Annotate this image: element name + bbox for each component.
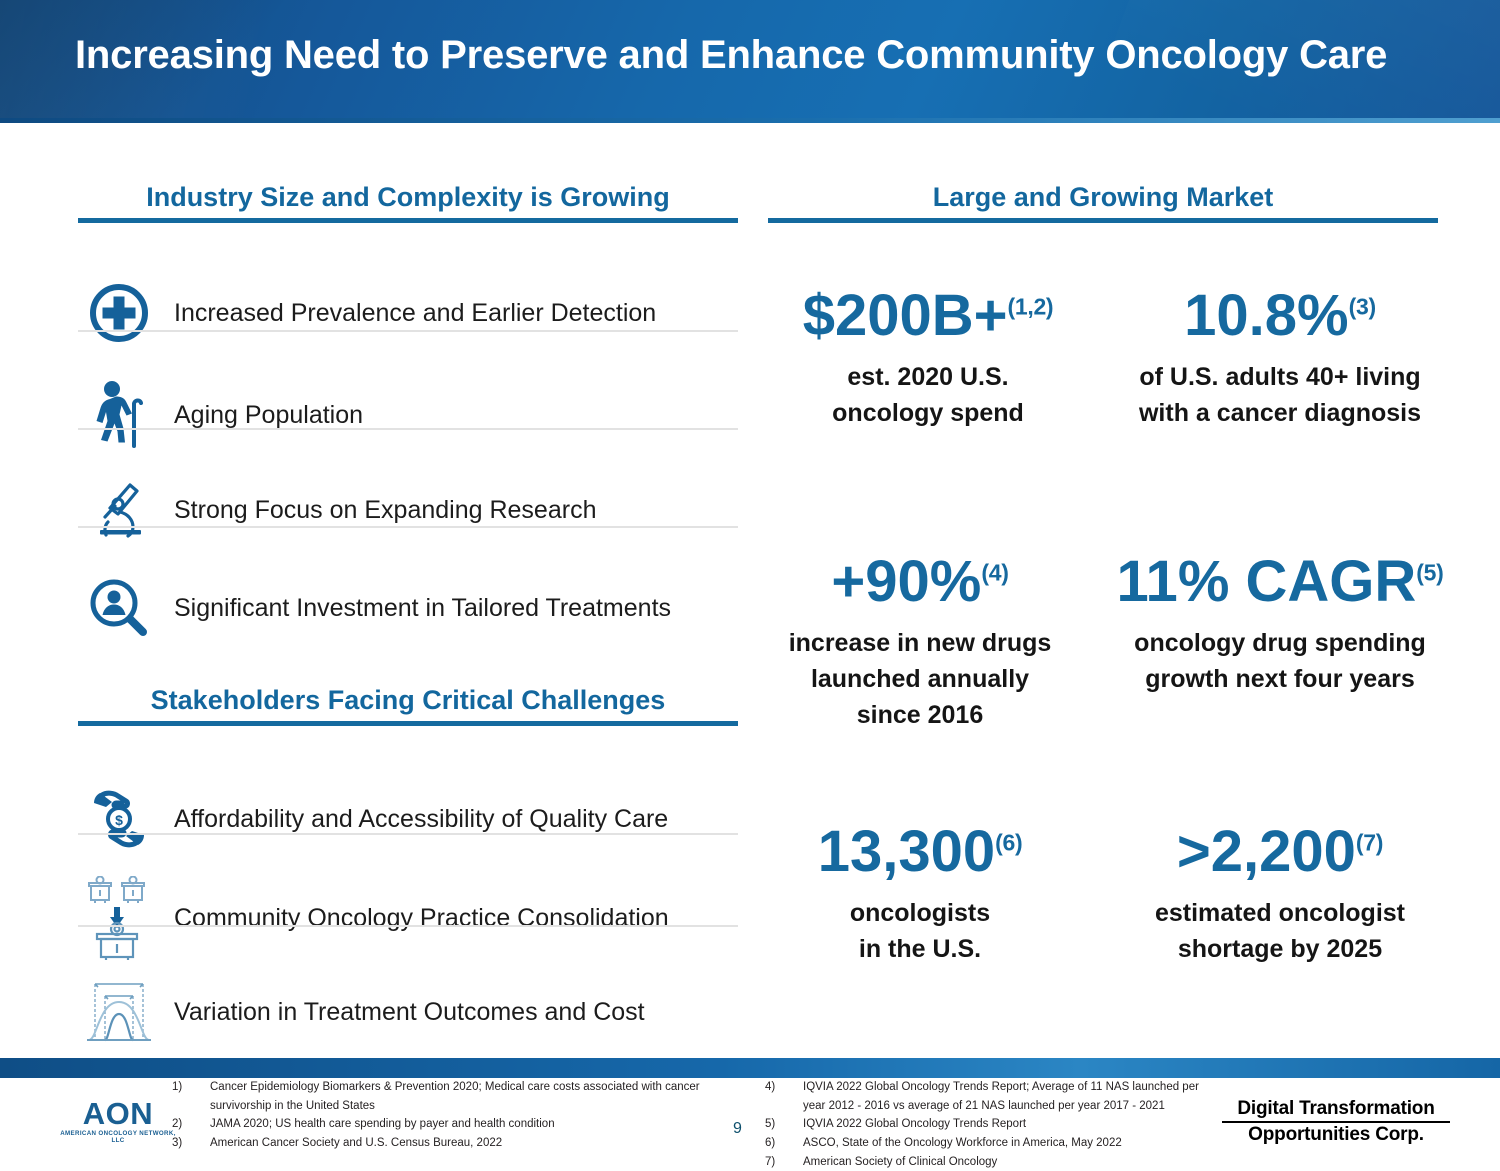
stat-block: +90%(4) increase in new drugs launched a… — [760, 552, 1080, 734]
footnote-text: American Society of Clinical Oncology — [803, 1153, 1220, 1171]
footnote-item: 7) American Society of Clinical Oncology — [765, 1153, 1220, 1171]
list-item-label: Significant Investment in Tailored Treat… — [160, 594, 671, 623]
stat-value: 11% CAGR(5) — [1110, 552, 1450, 613]
footnote-text: American Cancer Society and U.S. Census … — [210, 1134, 712, 1153]
list-item: Strong Focus on Expanding Research — [78, 478, 738, 542]
list-item: Aging Population — [78, 380, 738, 450]
stat-value: >2,200(7) — [1110, 822, 1450, 883]
footnote-item: 5) IQVIA 2022 Global Oncology Trends Rep… — [765, 1115, 1220, 1134]
stat-caption: est. 2020 U.S. oncology spend — [768, 359, 1088, 432]
list-item-label: Aging Population — [160, 401, 363, 430]
list-item: Variation in Treatment Outcomes and Cost — [78, 974, 738, 1050]
stat-caption: oncologists in the U.S. — [760, 895, 1080, 968]
footnote-number: 4) — [765, 1078, 803, 1115]
list-divider — [78, 428, 738, 430]
section-heading-stakeholder-challenges: Stakeholders Facing Critical Challenges — [78, 685, 738, 716]
list-item-label: Community Oncology Practice Consolidatio… — [160, 904, 669, 933]
aon-logo: AON AMERICAN ONCOLOGY NETWORK, LLC — [58, 1092, 178, 1150]
hands-holding-money-icon: $ — [78, 785, 160, 853]
footnotes-left: 1) Cancer Epidemiology Biomarkers & Prev… — [172, 1078, 712, 1153]
list-item: Community Oncology Practice Consolidatio… — [78, 876, 738, 960]
list-item: Significant Investment in Tailored Treat… — [78, 576, 738, 640]
footnote-number: 5) — [765, 1115, 803, 1134]
elderly-person-cane-icon — [78, 380, 160, 450]
footnote-item: 3) American Cancer Society and U.S. Cens… — [172, 1134, 712, 1153]
list-divider — [78, 925, 738, 927]
footnote-text: Cancer Epidemiology Biomarkers & Prevent… — [210, 1078, 712, 1115]
footnote-item: 1) Cancer Epidemiology Biomarkers & Prev… — [172, 1078, 712, 1115]
footnote-text: ASCO, State of the Oncology Workforce in… — [803, 1134, 1220, 1153]
footnotes-right: 4) IQVIA 2022 Global Oncology Trends Rep… — [765, 1078, 1220, 1171]
bell-curve-variation-icon — [78, 974, 160, 1050]
stat-footnote-ref: (4) — [981, 560, 1008, 586]
footnote-text: IQVIA 2022 Global Oncology Trends Report… — [803, 1078, 1220, 1115]
stat-footnote-ref: (3) — [1349, 294, 1376, 320]
footnote-number: 2) — [172, 1115, 210, 1134]
svg-text:$: $ — [115, 812, 123, 828]
practice-consolidation-icon — [78, 876, 160, 960]
list-item-label: Increased Prevalence and Earlier Detecti… — [160, 299, 656, 328]
section-rule-stakeholder-challenges — [78, 721, 738, 726]
stat-footnote-ref: (5) — [1416, 560, 1443, 586]
microscope-icon — [78, 478, 160, 542]
dtoc-logo-line1: Digital Transformation — [1222, 1098, 1450, 1123]
page-title: Increasing Need to Preserve and Enhance … — [75, 33, 1387, 78]
stat-value: 10.8%(3) — [1110, 286, 1450, 347]
list-item-label: Strong Focus on Expanding Research — [160, 496, 596, 525]
footer-accent-bar — [0, 1058, 1500, 1078]
stat-footnote-ref: (7) — [1356, 830, 1383, 856]
header-bottom-rule — [0, 118, 1500, 123]
footnote-item: 2) JAMA 2020; US health care spending by… — [172, 1115, 712, 1134]
footnote-number: 3) — [172, 1134, 210, 1153]
list-item-label: Affordability and Accessibility of Quali… — [160, 805, 668, 834]
list-item: Increased Prevalence and Earlier Detecti… — [78, 282, 738, 344]
stat-block: 13,300(6) oncologists in the U.S. — [760, 822, 1080, 967]
list-item-label: Variation in Treatment Outcomes and Cost — [160, 998, 645, 1027]
stat-value: 13,300(6) — [760, 822, 1080, 883]
stat-caption: of U.S. adults 40+ living with a cancer … — [1110, 359, 1450, 432]
footnote-number: 6) — [765, 1134, 803, 1153]
section-heading-large-growing-market: Large and Growing Market — [768, 182, 1438, 213]
footnote-item: 4) IQVIA 2022 Global Oncology Trends Rep… — [765, 1078, 1220, 1115]
stat-block: >2,200(7) estimated oncologist shortage … — [1110, 822, 1450, 967]
stat-caption: oncology drug spending growth next four … — [1110, 625, 1450, 698]
footnote-number: 1) — [172, 1078, 210, 1115]
stat-value: $200B+(1,2) — [768, 286, 1088, 347]
stat-value: +90%(4) — [760, 552, 1080, 613]
page-number: 9 — [733, 1120, 742, 1138]
stat-footnote-ref: (6) — [995, 830, 1022, 856]
stat-block: 10.8%(3) of U.S. adults 40+ living with … — [1110, 286, 1450, 431]
dtoc-logo: Digital Transformation Opportunities Cor… — [1222, 1098, 1450, 1146]
footnote-text: IQVIA 2022 Global Oncology Trends Report — [803, 1115, 1220, 1134]
footnote-item: 6) ASCO, State of the Oncology Workforce… — [765, 1134, 1220, 1153]
list-divider — [78, 833, 738, 835]
footnote-number: 7) — [765, 1153, 803, 1171]
footnote-text: JAMA 2020; US health care spending by pa… — [210, 1115, 712, 1134]
list-divider — [78, 330, 738, 332]
slide-header-banner: Increasing Need to Preserve and Enhance … — [0, 0, 1500, 118]
dtoc-logo-line2: Opportunities Corp. — [1222, 1123, 1450, 1146]
medical-cross-circle-icon — [78, 282, 160, 344]
stat-footnote-ref: (1,2) — [1008, 294, 1054, 320]
list-item: $ Affordability and Accessibility of Qua… — [78, 785, 738, 853]
section-rule-industry-size — [78, 218, 738, 223]
person-magnifier-icon — [78, 576, 160, 640]
section-heading-industry-size: Industry Size and Complexity is Growing — [78, 182, 738, 213]
section-rule-large-growing-market — [768, 218, 1438, 223]
stat-caption: estimated oncologist shortage by 2025 — [1110, 895, 1450, 968]
aon-wordmark: AON — [58, 1096, 178, 1132]
stat-caption: increase in new drugs launched annually … — [760, 625, 1080, 734]
aon-tagline: AMERICAN ONCOLOGY NETWORK, LLC — [58, 1130, 178, 1144]
stat-block: $200B+(1,2) est. 2020 U.S. oncology spen… — [768, 286, 1088, 431]
stat-block: 11% CAGR(5) oncology drug spending growt… — [1110, 552, 1450, 697]
list-divider — [78, 526, 738, 528]
